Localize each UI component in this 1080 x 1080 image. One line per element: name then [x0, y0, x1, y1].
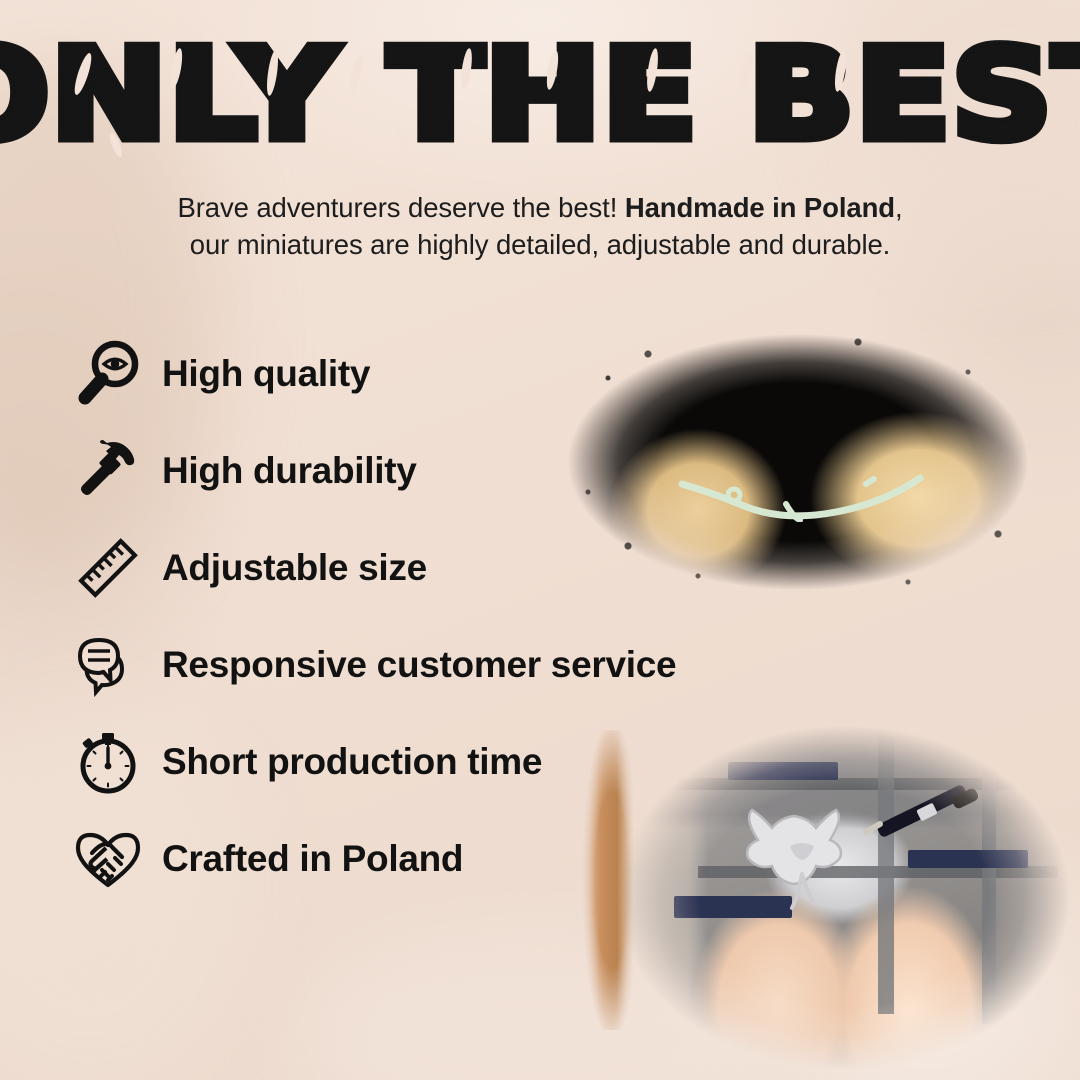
subheading-line2: our miniatures are highly detailed, adju…: [190, 229, 890, 260]
feature-label: Crafted in Poland: [162, 838, 463, 880]
ruler-icon: [62, 522, 154, 614]
shelf-upright: [982, 734, 996, 1024]
feature-label: Responsive customer service: [162, 644, 676, 686]
painting-dragon-miniature-photo: [578, 700, 1080, 1080]
parts-tray: [728, 762, 838, 780]
feature-label: High durability: [162, 450, 417, 492]
headline-container: ONLY THE BEST: [0, 36, 1080, 147]
photo-image: [578, 700, 1080, 1080]
poster-canvas: ONLY THE BEST Brave adventurers deserve …: [0, 0, 1080, 1080]
parts-tray: [674, 896, 792, 918]
subheading-line1-post: ,: [895, 192, 903, 223]
subheading: Brave adventurers deserve the best! Hand…: [90, 190, 990, 263]
page-title: ONLY THE BEST: [0, 36, 1080, 154]
fingers-holding-miniature-photo: [548, 312, 1048, 612]
shelf-upright: [878, 714, 894, 1014]
hammer-icon: [62, 425, 154, 517]
feature-label: Adjustable size: [162, 547, 427, 589]
stopwatch-icon: [62, 716, 154, 808]
feature-label: High quality: [162, 353, 370, 395]
feature-row-customer-service: Responsive customer service: [62, 616, 802, 713]
feature-label: Short production time: [162, 741, 542, 783]
heart-handshake-icon: [62, 813, 154, 905]
photo-image: [548, 312, 1048, 612]
magnifier-eye-icon: [62, 328, 154, 420]
parts-tray: [908, 850, 1028, 868]
subheading-line1-pre: Brave adventurers deserve the best!: [177, 192, 624, 223]
subheading-emphasis: Handmade in Poland: [625, 192, 895, 223]
speech-bubbles-icon: [62, 619, 154, 711]
